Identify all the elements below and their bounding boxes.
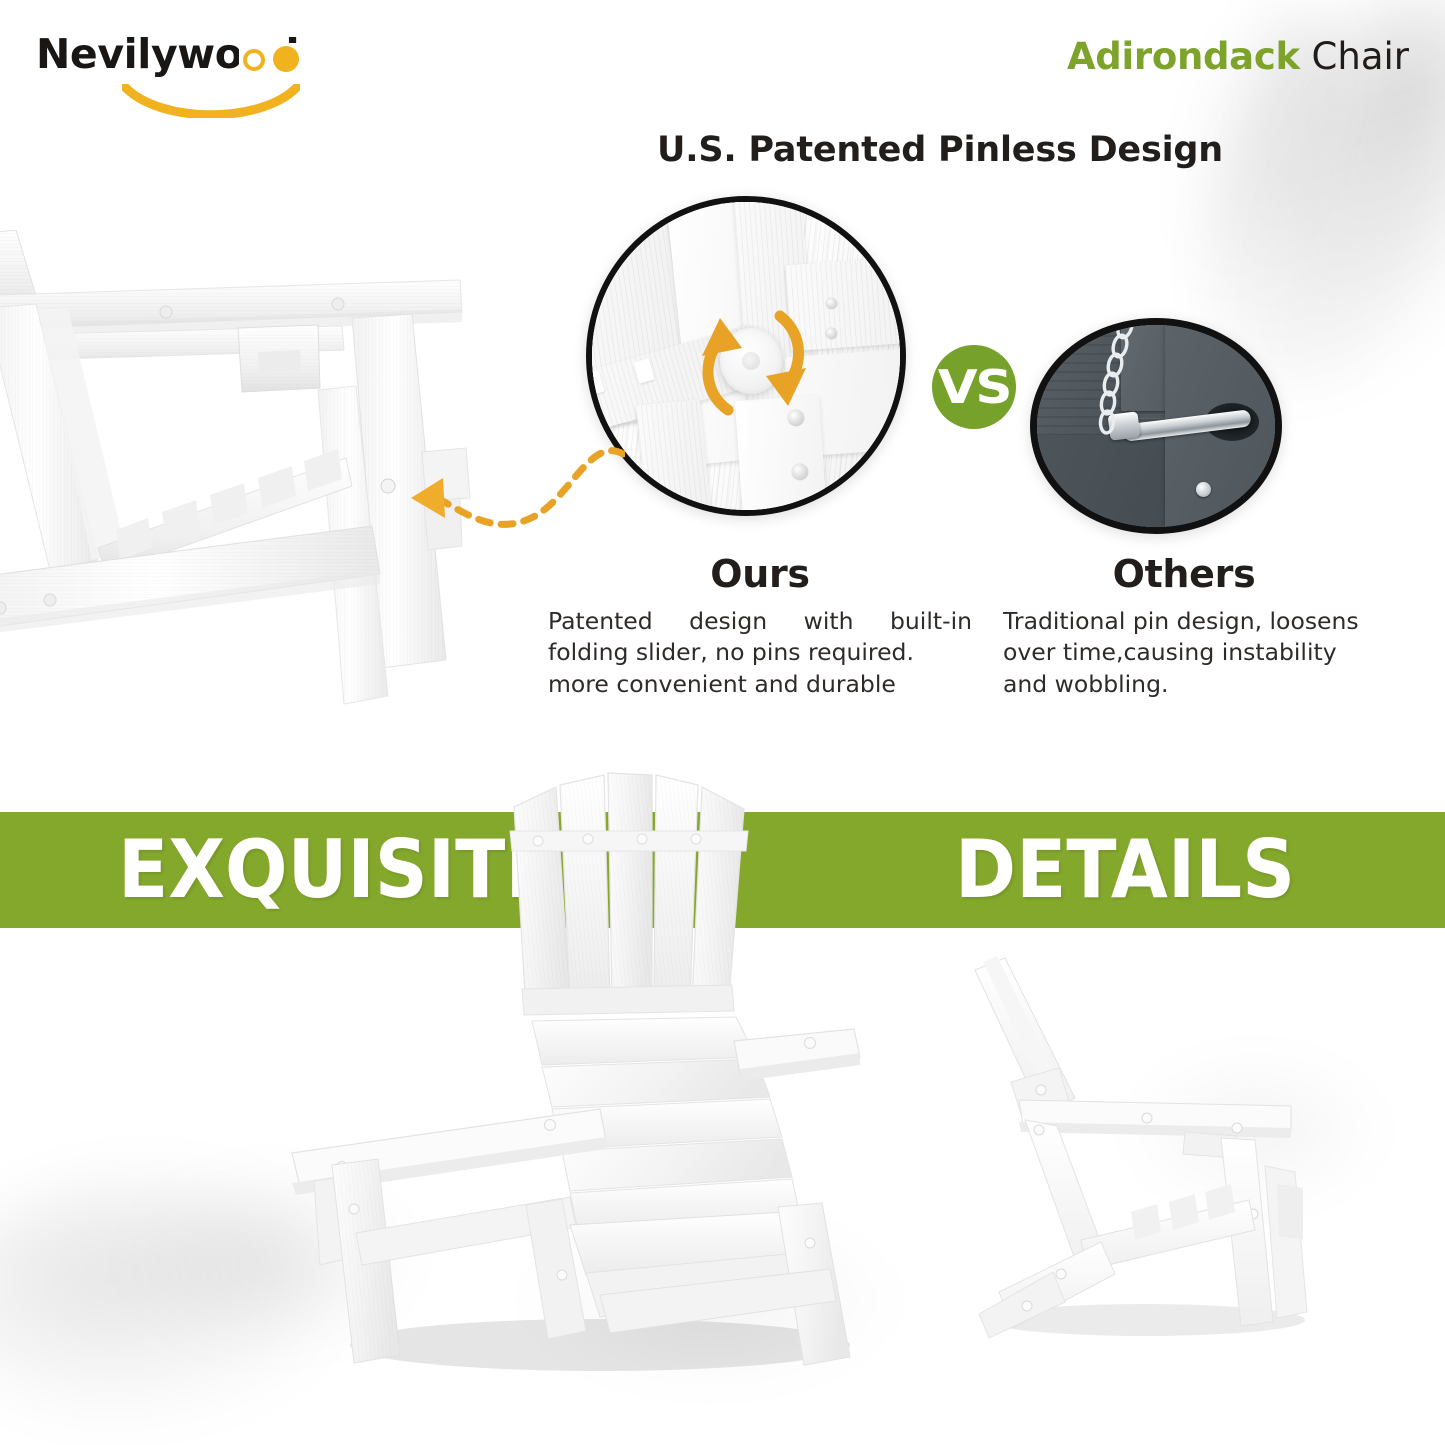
logo-smile-icon [122,84,300,118]
zoom-circle-others [1030,318,1282,534]
logo-o-dot-icon [273,46,299,72]
rotation-arrows-icon [688,294,818,430]
comparison-body-others: Traditional pin design, loosens over tim… [1003,606,1365,700]
marketing-image: Nevilywood Adirondack Chair U.S. Patente… [0,0,1445,1445]
ours-line1-word-4: built-in [890,606,972,637]
comparison-title-others: Others [1003,552,1365,596]
comparison-column-others: Others Traditional pin design, loosens o… [1003,552,1365,700]
chain-icon [1085,319,1145,449]
product-title-rest: Chair [1300,35,1409,78]
vs-badge-label: VS [927,345,1021,429]
hero-chair-image [270,735,910,1375]
ours-line1-word-1: Patented [548,606,653,637]
product-title-accent: Adirondack [1067,35,1300,78]
ours-line1-word-2: design [689,606,767,637]
screw-icon [1196,482,1211,497]
ours-body-line-3: more convenient and durable [548,669,972,700]
product-title: Adirondack Chair [1067,38,1409,75]
comparison-body-ours: Patented design with built-in folding sl… [548,606,972,700]
ours-line1-word-3: with [804,606,854,637]
logo-o-ring-icon [243,49,265,71]
vs-badge: VS [932,345,1016,429]
dashed-arrow-icon [395,430,625,560]
zoom-circle-ours [586,196,906,516]
others-body-line-3: and wobbling. [1003,669,1365,700]
others-body-line-2: over time,causing instability [1003,637,1365,668]
brand-logo: Nevilywood [36,34,299,75]
others-body-line-1: Traditional pin design, loosens [1003,606,1365,637]
feature-section-heading: U.S. Patented Pinless Design [600,130,1280,170]
ours-body-line-2: folding slider, no pins required. [548,637,972,668]
side-chair-image [935,940,1335,1340]
comparison-column-ours: Ours Patented design with built-in foldi… [548,552,972,700]
comparison-title-ours: Ours [548,552,972,596]
